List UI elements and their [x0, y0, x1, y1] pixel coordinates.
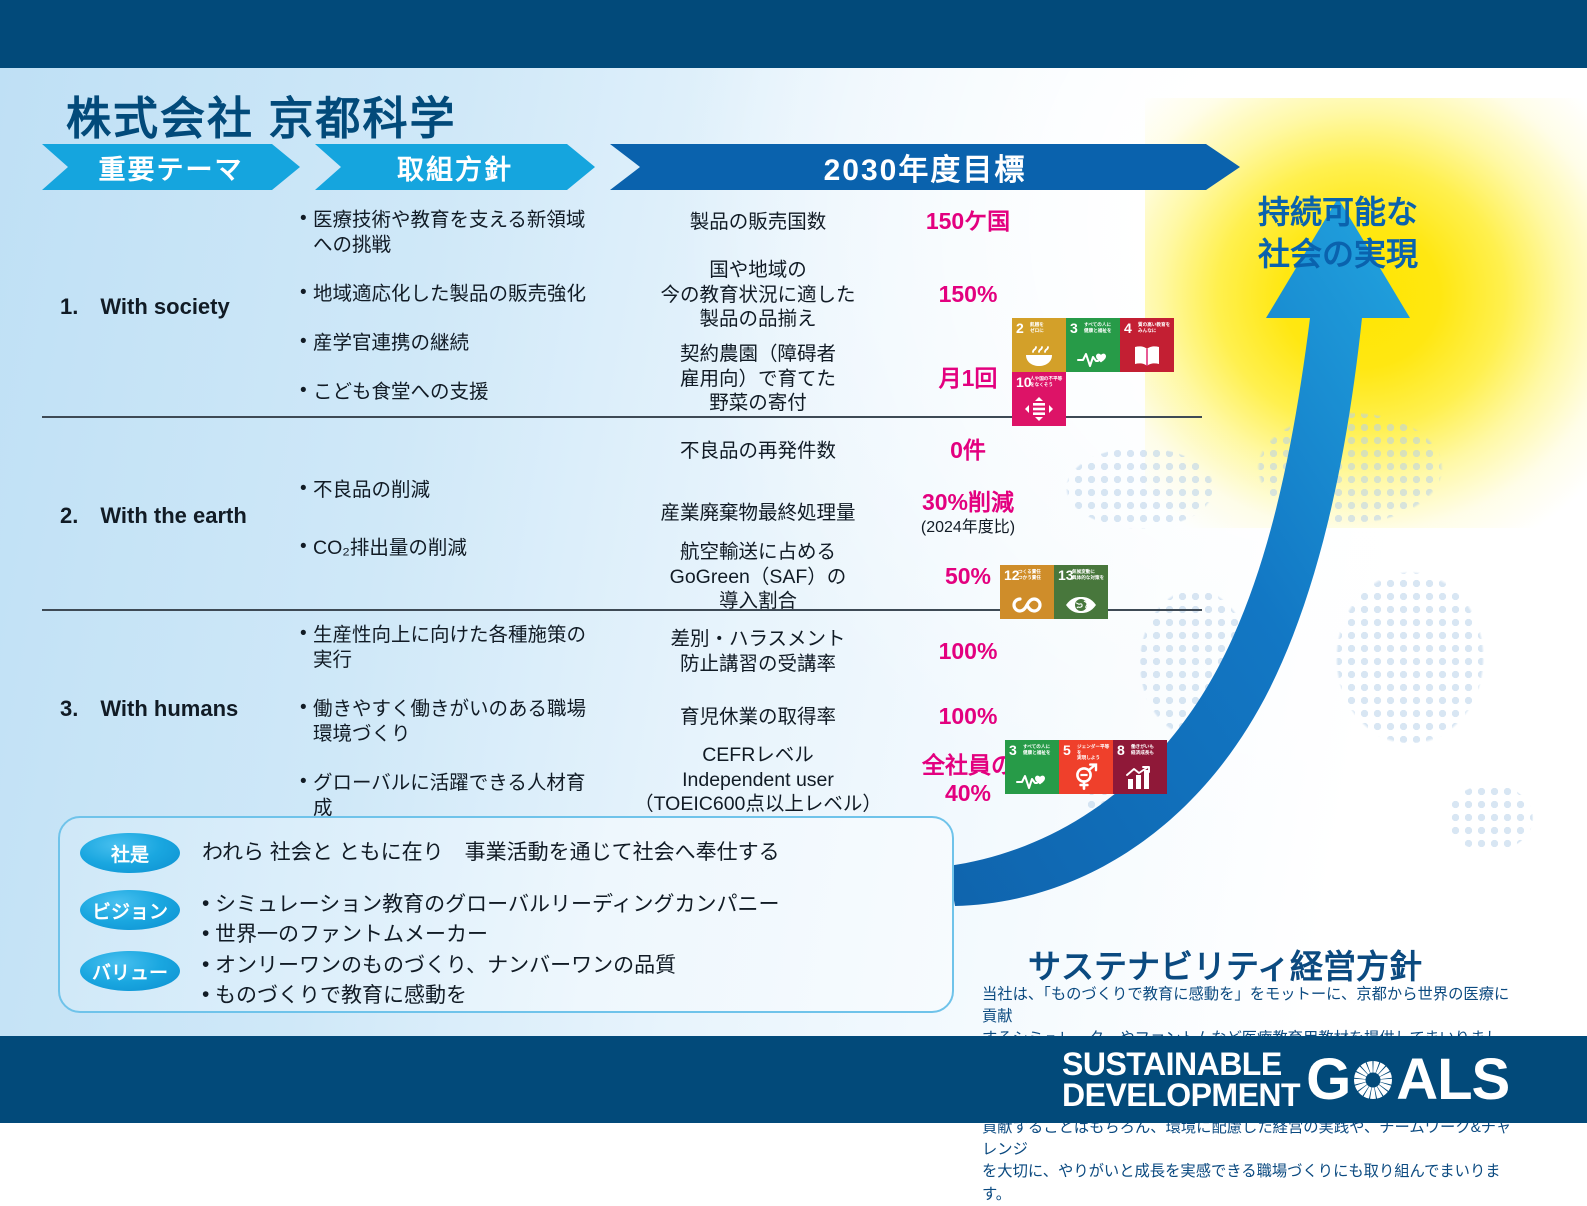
pill-label-value: バリュー — [80, 951, 180, 991]
sdg-tile-5: 5ジェンダー平等を 実現しよう — [1059, 740, 1113, 794]
goal-name: 不良品の再発件数 — [622, 439, 894, 464]
value-text: オンリーワンのものづくり、ナンバーワンの品質 ものづくりで教育に感動を — [202, 951, 938, 1011]
book-icon — [1120, 344, 1174, 368]
chevron-label: 重要テーマ — [99, 148, 244, 187]
goal-value: 150ケ国 — [894, 208, 1042, 236]
goal-value: 30%削減 (2024年度比) — [894, 462, 1042, 565]
goal-entry: 産業廃棄物最終処理量 30%削減 (2024年度比) — [622, 480, 1042, 546]
chevron-2030-goals: 2030年度目標 — [610, 144, 1240, 190]
vision-text: シミュレーション教育のグローバルリーディングカンパニー 世界一のファントムメーカ… — [202, 890, 938, 950]
list-item: オンリーワンのものづくり、ナンバーワンの品質 — [202, 951, 938, 981]
top-navy-bar — [0, 0, 1587, 68]
sdg-caption: 気候変動に 具体的な対策を — [1072, 569, 1106, 580]
infinity-icon — [1000, 595, 1054, 615]
main-canvas: 株式会社 京都科学 重要テーマ 取組方針 2030年度目標 持続可能な 社会の実… — [0, 68, 1587, 1036]
list-item: 働きやすく働きがいのある職場 環境づくり — [300, 697, 600, 747]
realization-headline: 持続可能な 社会の実現 — [1258, 191, 1418, 275]
sdg-g-letter: G — [1306, 1046, 1350, 1113]
sdg-caption: 人や国の不平等 をなくそう — [1030, 376, 1064, 387]
list-item: 地域適応化した製品の販売強化 — [300, 282, 600, 307]
sdg-tile-12: 12つくる責任 つかう責任 — [1000, 565, 1054, 619]
growth-chart-icon — [1113, 766, 1167, 790]
list-item: CO₂排出量の削減 — [300, 536, 600, 561]
sustainability-policy-title: サステナビリティ経営方針 — [1028, 940, 1422, 988]
goal-entry: 契約農園（障碍者 雇用向）で育てた 野菜の寄付 月1回 — [622, 344, 1042, 414]
policy-list: 医療技術や教育を支える新領域 への挑戦 地域適応化した製品の販売強化 産学官連携… — [300, 208, 600, 429]
sdg-wordmark-text: SUSTAINABLE DEVELOPMENT — [1062, 1049, 1300, 1110]
sdg-tile-3: 3すべての人に 健康と福祉を — [1066, 318, 1120, 372]
sdg-number: 3 — [1009, 743, 1017, 757]
sdg-line-2: DEVELOPMENT — [1062, 1080, 1300, 1111]
eye-earth-icon — [1054, 595, 1108, 615]
motto-text: われら 社会と ともに在り 事業活動を通じて社会へ奉仕する — [202, 838, 938, 868]
sdg-caption: ジェンダー平等を 実現しよう — [1077, 744, 1111, 761]
sdg-caption: 働きがいも 経済成長も — [1131, 744, 1165, 755]
goal-entry: 差別・ハラスメント 防止講習の受講率 100% — [622, 617, 1042, 687]
goal-value: 100% — [894, 638, 1042, 666]
sdg-tile-2: 2飢餓を ゼロに — [1012, 318, 1066, 372]
chevron-important-themes: 重要テーマ — [42, 144, 300, 190]
goal-name: 差別・ハラスメント 防止講習の受講率 — [622, 627, 894, 676]
chevron-label: 2030年度目標 — [824, 145, 1027, 189]
goal-entry: 製品の販売国数 150ケ国 — [622, 198, 1042, 246]
goal-name: 産業廃棄物最終処理量 — [622, 501, 894, 526]
goal-entry: 育児休業の取得率 100% — [622, 687, 1042, 747]
philosophy-box: 社是 ビジョン バリュー われら 社会と ともに在り 事業活動を通じて社会へ奉仕… — [58, 816, 954, 1013]
theme-label: 2. With the earth — [60, 498, 247, 530]
list-item: 不良品の削減 — [300, 478, 600, 503]
list-item: シミュレーション教育のグローバルリーディングカンパニー — [202, 890, 938, 920]
goal-name: 契約農園（障碍者 雇用向）で育てた 野菜の寄付 — [622, 342, 894, 416]
goal-name: 製品の販売国数 — [622, 210, 894, 235]
list-item: 生産性向上に向けた各種施策の 実行 — [300, 623, 600, 673]
sdg-goals-word: G ALS — [1306, 1046, 1509, 1113]
page-title: 株式会社 京都科学 — [66, 82, 457, 147]
sdg-tile-13: 13気候変動に 具体的な対策を — [1054, 565, 1108, 619]
list-item: ものづくりで教育に感動を — [202, 981, 938, 1011]
theme-label: 1. With society — [60, 289, 230, 321]
list-item: 世界一のファントムメーカー — [202, 920, 938, 950]
policy-list: 不良品の削減 CO₂排出量の削減 — [300, 478, 600, 594]
list-item: グローバルに活躍できる人材育成 — [300, 771, 600, 821]
goal-entry: CEFRレベル Independent user （TOEIC600点以上レベル… — [622, 747, 1042, 813]
goal-entry: 国や地域の 今の教育状況に適した 製品の品揃え 150% — [622, 246, 1042, 344]
chevron-label: 取組方針 — [397, 148, 513, 187]
sdg-tile-3: 3すべての人に 健康と福祉を — [1005, 740, 1059, 794]
sdg-icon-group-society: 2飢餓を ゼロに3すべての人に 健康と福祉を4質の高い教育を みんなに10人や国… — [1012, 318, 1192, 426]
pill-label-vision: ビジョン — [80, 890, 180, 930]
list-item: 産学官連携の継続 — [300, 331, 600, 356]
sdg-als-letters: ALS — [1396, 1046, 1509, 1113]
goal-value: 100% — [894, 703, 1042, 731]
goal-name: CEFRレベル Independent user （TOEIC600点以上レベル… — [622, 743, 894, 817]
goal-list: 不良品の再発件数 0件 産業廃棄物最終処理量 30%削減 (2024年度比) 航… — [622, 422, 1042, 608]
gender-icon — [1059, 762, 1113, 790]
goal-value: 150% — [894, 281, 1042, 309]
sdg-caption: 質の高い教育を みんなに — [1138, 322, 1172, 333]
list-item: 医療技術や教育を支える新領域 への挑戦 — [300, 208, 600, 258]
sdg-number: 3 — [1070, 321, 1078, 335]
sdg-colour-wheel-icon — [1351, 1058, 1395, 1102]
sdg-icon-group-earth: 12つくる責任 つかう責任13気候変動に 具体的な対策を — [1000, 565, 1180, 619]
goal-value-main: 30%削減 — [922, 489, 1014, 515]
sdg-tile-8: 8働きがいも 経済成長も — [1113, 740, 1167, 794]
policy-list: 生産性向上に向けた各種施策の 実行 働きやすく働きがいのある職場 環境づくり グ… — [300, 623, 600, 845]
sdg-tile-4: 4質の高い教育を みんなに — [1120, 318, 1174, 372]
goal-list: 差別・ハラスメント 防止講習の受講率 100% 育児休業の取得率 100% CE… — [622, 617, 1042, 813]
bowl-icon — [1012, 344, 1066, 368]
sdg-caption: 飢餓を ゼロに — [1030, 322, 1064, 333]
heartbeat-icon — [1066, 348, 1120, 368]
sdg-caption: すべての人に 健康と福祉を — [1084, 322, 1118, 333]
sdg-caption: すべての人に 健康と福祉を — [1023, 744, 1057, 755]
sdg-icon-group-humans: 3すべての人に 健康と福祉を5ジェンダー平等を 実現しよう8働きがいも 経済成長… — [1005, 740, 1185, 794]
sdg-caption: つくる責任 つかう責任 — [1018, 569, 1052, 580]
goal-name: 国や地域の 今の教育状況に適した 製品の品揃え — [622, 258, 894, 332]
equality-icon — [1012, 396, 1066, 422]
goal-name: 育児休業の取得率 — [622, 705, 894, 730]
goal-list: 製品の販売国数 150ケ国 国や地域の 今の教育状況に適した 製品の品揃え 15… — [622, 198, 1042, 414]
chevron-action-policy: 取組方針 — [315, 144, 595, 190]
pill-label-motto: 社是 — [80, 833, 180, 873]
sdg-wordmark: SUSTAINABLE DEVELOPMENT G ALS — [1062, 1036, 1542, 1123]
goal-value-note: (2024年度比) — [894, 518, 1042, 537]
sdg-number: 5 — [1063, 743, 1071, 757]
goal-name: 航空輸送に占める GoGreen（SAF）の 導入割合 — [622, 540, 894, 614]
list-item: こども食堂への支援 — [300, 380, 600, 405]
heartbeat-icon — [1005, 770, 1059, 790]
sdg-tile-10: 10人や国の不平等 をなくそう — [1012, 372, 1066, 426]
sdg-number: 4 — [1124, 321, 1132, 335]
theme-label: 3. With humans — [60, 691, 238, 723]
sdg-line-1: SUSTAINABLE — [1062, 1049, 1300, 1080]
sdg-number: 2 — [1016, 321, 1024, 335]
sdg-number: 8 — [1117, 743, 1125, 757]
